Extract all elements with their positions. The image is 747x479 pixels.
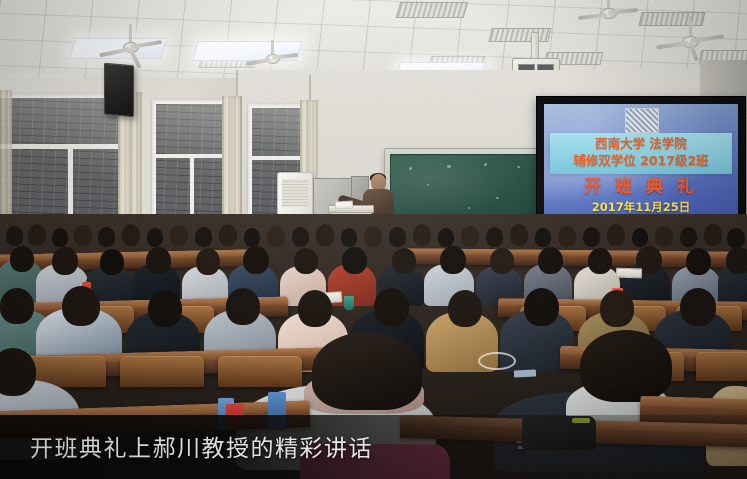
student-head [122,224,140,246]
student-head [10,246,34,272]
student-head [196,248,220,275]
student-head [342,247,367,274]
ceiling-fan [245,40,297,70]
student-head [413,224,431,246]
slide-line-date: 2017年11月25日 [544,202,738,214]
student-head [226,288,260,325]
lecture-hall-photo: 西南大学 法学院 辅修双学位 2017级2班 开 班 典 礼 2017年11月2… [0,0,747,479]
student-head [298,290,332,327]
student-head [52,247,78,275]
student-head [374,288,409,326]
student-head [219,224,237,246]
student-head [440,246,466,274]
window-mullion [0,144,124,149]
student-head [6,226,23,246]
slide-line-university: 西南大学 法学院 [544,138,738,151]
student-head [448,290,482,327]
ceiling-vent [488,28,551,42]
slide-line-class: 辅修双学位 2017级2班 [544,155,738,168]
student-head [146,247,171,274]
student-head [510,224,528,246]
student-head [588,248,612,274]
student-head [148,290,182,327]
photo-caption: 开班典礼上郝川教授的精彩讲话 [30,429,373,463]
student-head [600,290,634,327]
wall-speaker [104,63,134,118]
student-head [392,248,416,274]
student-head [726,247,747,274]
earphones [478,352,516,370]
ac-grille [282,179,308,207]
student-head [294,248,318,274]
student-head [524,288,559,326]
student-head [607,224,625,246]
notebook [616,268,642,279]
window-mullion [250,156,306,160]
student-head [686,248,711,275]
student-head [62,286,100,326]
student-head [680,288,716,326]
slide-line-ceremony: 开 班 典 礼 [544,179,738,196]
student-head [312,332,422,410]
student-head [580,330,672,402]
student-head [490,248,514,274]
student-head [74,225,92,246]
student-head [0,348,36,396]
student-head [28,224,46,246]
student-head [704,224,722,246]
university-logo-icon [625,108,658,133]
ceiling-fan [580,0,638,28]
student-head [243,246,269,274]
student-head [170,225,188,246]
ceiling-vent [396,2,469,18]
ceiling-fan [100,24,160,58]
paper-stack [335,201,353,210]
ceiling-fan [660,16,722,52]
student-head [0,288,34,324]
student-head [100,249,124,275]
student-head [538,247,563,274]
student-head [316,224,334,246]
